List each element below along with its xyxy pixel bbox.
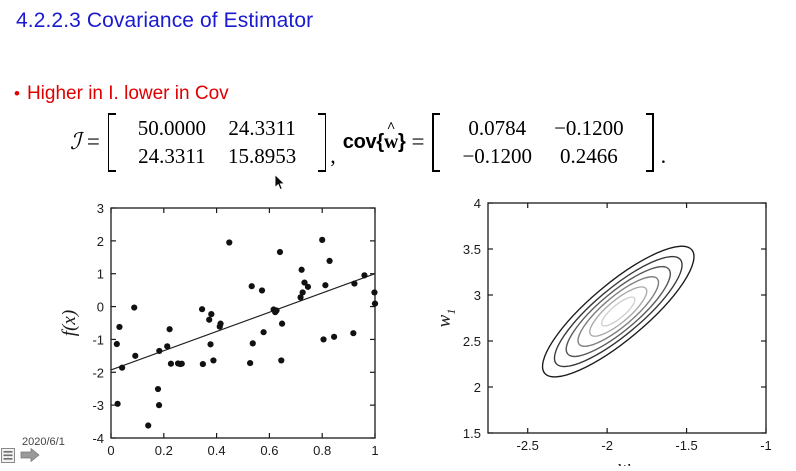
contour-ylabel: w1: [440, 309, 458, 328]
scatter-point: [319, 237, 325, 243]
scatter-point: [217, 321, 223, 327]
scatter-point: [115, 401, 121, 407]
right-bracket-1: [317, 113, 326, 172]
scatter-svg: 00.20.40.60.81-4-3-2-10123xf(x): [0, 195, 400, 466]
equation-comma: ,: [330, 143, 336, 172]
contour-ytick-5: 4: [474, 196, 481, 211]
scatter-ylabel: f(x): [59, 310, 80, 336]
scatter-point: [371, 289, 377, 295]
scatter-xtick-0: 0: [107, 443, 114, 458]
scatter-point: [199, 306, 205, 312]
scatter-xtick-5: 1: [371, 443, 378, 458]
scatter-point: [114, 341, 120, 347]
scatter-point: [331, 334, 337, 340]
scatter-point: [322, 282, 328, 288]
scatter-point: [260, 329, 266, 335]
fisher-cell-10: 24.3311: [127, 143, 217, 170]
contour-svg: -2.5-2-1.5-11.522.533.54w0w1: [440, 195, 796, 466]
scatter-point: [372, 301, 378, 307]
equation-block: ℐ = 50.0000 24.3311 24.3311 15.8953 , co…: [70, 113, 666, 172]
left-bracket-2: [432, 113, 441, 172]
scatter-xtick-3: 0.6: [260, 443, 278, 458]
contour-xtick-2: -1.5: [675, 438, 697, 453]
scatter-point: [200, 361, 206, 367]
cov-prefix: cov{: [343, 131, 384, 153]
contour-ytick-3: 3: [474, 288, 481, 303]
cov-cell-11: 0.2466: [543, 143, 635, 170]
scatter-ytick-0: -4: [92, 431, 104, 446]
scatter-point: [210, 357, 216, 363]
scatter-point: [249, 283, 255, 289]
scatter-point: [226, 239, 232, 245]
covariance-label: cov{w}: [343, 131, 406, 154]
covariance-contour-chart: -2.5-2-1.5-11.522.533.54w0w1: [440, 195, 796, 466]
bullet-text: Higher in I. lower in Cov: [27, 83, 229, 105]
scatter-ytick-1: -3: [92, 398, 104, 413]
contour-xlabel: w0: [618, 457, 637, 466]
equals-sign-2: =: [411, 129, 424, 155]
scatter-point: [277, 249, 283, 255]
fisher-cell-01: 24.3311: [217, 115, 307, 142]
scatter-axis-frame: [111, 208, 375, 438]
page-list-icon[interactable]: [1, 448, 15, 468]
scatter-point: [131, 304, 137, 310]
scatter-point: [179, 361, 185, 367]
cov-suffix: }: [398, 131, 405, 153]
scatter-xtick-4: 0.8: [313, 443, 331, 458]
scatter-point: [326, 258, 332, 264]
covariance-matrix-cells: 0.0784 −0.1200 −0.1200 0.2466: [441, 113, 644, 172]
scatter-ytick-2: -2: [92, 365, 104, 380]
contour-ytick-1: 2: [474, 380, 481, 395]
scatter-point: [247, 360, 253, 366]
page-title: 4.2.2.3 Covariance of Estimator: [16, 9, 313, 33]
scatter-xtick-1: 0.2: [155, 443, 173, 458]
scatter-point: [164, 343, 170, 349]
cov-cell-01: −0.1200: [543, 115, 635, 142]
contour-ytick-4: 3.5: [463, 242, 481, 257]
slide-canvas: 4.2.2.3 Covariance of Estimator • Higher…: [0, 0, 796, 466]
scatter-point: [155, 386, 161, 392]
contour-xtick-0: -2.5: [517, 438, 539, 453]
equation-period: .: [661, 143, 667, 172]
mouse-pointer-icon: [274, 174, 286, 192]
contour-xtick-3: -1: [760, 438, 772, 453]
scatter-ytick-5: 1: [97, 267, 104, 282]
contour-ytick-0: 1.5: [463, 426, 481, 441]
fisher-matrix-cells: 50.0000 24.3311 24.3311 15.8953: [117, 113, 318, 172]
left-bracket-1: [108, 113, 117, 172]
scatter-point: [300, 289, 306, 295]
scatter-point: [168, 361, 174, 367]
scatter-point: [206, 317, 212, 323]
scatter-ytick-6: 2: [97, 234, 104, 249]
scatter-point: [278, 357, 284, 363]
scatter-point: [207, 341, 213, 347]
bullet-marker-icon: •: [14, 85, 20, 102]
scatter-point: [132, 353, 138, 359]
fisher-cell-00: 50.0000: [127, 115, 217, 142]
scatter-point: [259, 287, 265, 293]
scatter-point: [250, 340, 256, 346]
contour-xtick-1: -2: [601, 438, 613, 453]
scatter-ytick-7: 3: [97, 201, 104, 216]
scatter-point: [350, 330, 356, 336]
navigation-icons[interactable]: [1, 447, 40, 468]
cov-cell-00: 0.0784: [451, 115, 543, 142]
scatter-point: [320, 336, 326, 342]
scatter-xlabel: x: [238, 460, 248, 466]
fisher-information-symbol: ℐ: [70, 129, 81, 155]
scatter-point: [167, 326, 173, 332]
scatter-point: [305, 284, 311, 290]
w-hat-symbol: w: [384, 131, 398, 154]
scatter-regression-chart: 00.20.40.60.81-4-3-2-10123xf(x): [0, 195, 400, 466]
cov-cell-10: −0.1200: [451, 143, 543, 170]
scatter-point: [299, 267, 305, 273]
contour-ytick-2: 2.5: [463, 334, 481, 349]
right-bracket-2: [645, 113, 654, 172]
scatter-point: [145, 422, 151, 428]
scatter-ytick-3: -1: [92, 332, 104, 347]
scatter-point: [156, 348, 162, 354]
scatter-point: [279, 321, 285, 327]
fisher-matrix: 50.0000 24.3311 24.3311 15.8953: [108, 113, 327, 172]
fisher-cell-11: 15.8953: [217, 143, 307, 170]
scatter-point: [119, 365, 125, 371]
scatter-point: [156, 402, 162, 408]
right-arrow-icon[interactable]: [20, 447, 40, 468]
bullet-item: • Higher in I. lower in Cov: [14, 83, 229, 105]
scatter-point: [351, 280, 357, 286]
scatter-point: [273, 307, 279, 313]
scatter-point: [116, 324, 122, 330]
covariance-matrix: 0.0784 −0.1200 −0.1200 0.2466: [432, 113, 653, 172]
scatter-point: [208, 311, 214, 317]
scatter-xtick-2: 0.4: [208, 443, 226, 458]
equals-sign-1: =: [87, 129, 100, 155]
scatter-point: [361, 272, 367, 278]
scatter-ytick-4: 0: [97, 300, 104, 315]
